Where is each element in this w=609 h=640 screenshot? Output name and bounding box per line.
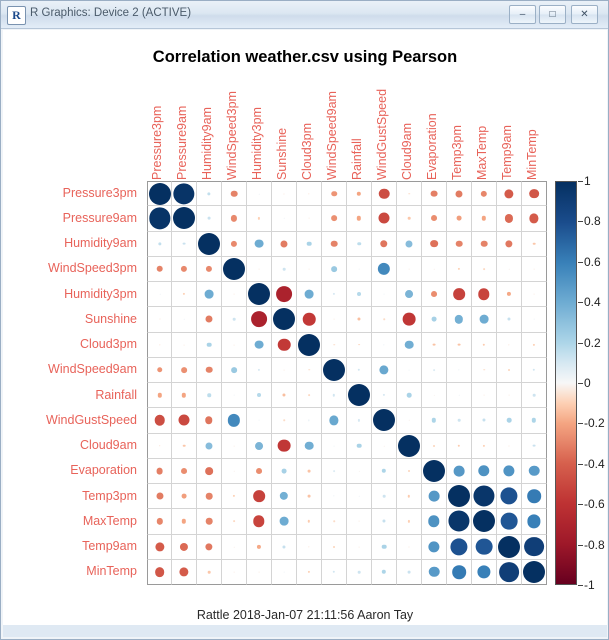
color-legend: 10.80.60.40.20-0.2-0.4-0.6-0.8-1 [555,181,607,585]
correlation-dot [408,495,410,497]
matrix-cell [522,358,547,383]
correlation-dot [207,192,210,195]
correlation-dot [273,308,295,330]
maximize-icon: □ [540,6,565,23]
matrix-cell [422,257,447,282]
matrix-cell [347,282,372,307]
correlation-dot [308,193,309,194]
row-label-maxtemp: MaxTemp [83,514,137,528]
correlation-dot [228,414,240,426]
correlation-dot [357,216,361,220]
correlation-dot [533,242,536,245]
matrix-cell [347,459,372,484]
correlation-dot [280,240,287,247]
correlation-dot [430,240,438,248]
correlation-dot [206,266,212,272]
matrix-cell [322,459,347,484]
matrix-cell [522,282,547,307]
correlation-dot [523,561,545,583]
matrix-cell [297,434,322,459]
correlation-dot [379,365,388,374]
matrix-cell [172,307,197,332]
correlation-dot [423,460,445,482]
correlation-dot [307,241,312,246]
legend-tick-label: -0.2 [584,416,605,430]
correlation-dot [483,268,485,270]
window-title: R Graphics: Device 2 (ACTIVE) [30,7,191,19]
matrix-cell [222,509,247,534]
correlation-dot [357,443,362,448]
matrix-cell [172,459,197,484]
correlation-dot [231,367,237,373]
correlation-dot [182,519,186,523]
legend-tick-label: -1 [584,578,595,592]
matrix-cell [497,408,522,433]
correlation-dot [284,369,285,370]
correlation-dot [182,393,186,397]
correlation-dot [156,493,163,500]
correlation-dot [529,214,538,223]
matrix-cell [472,560,497,585]
row-label-rainfall: Rainfall [95,388,137,402]
correlation-dot [534,294,535,295]
matrix-cell [472,358,497,383]
matrix-cell [422,509,447,534]
matrix-cell [297,358,322,383]
matrix-cell [347,509,372,534]
matrix-cell [322,282,347,307]
correlation-dot [428,541,439,552]
correlation-dot [207,393,211,397]
matrix-cell [497,509,522,534]
matrix-cell [197,509,222,534]
correlation-dot [507,418,512,423]
correlation-dot [483,343,485,345]
matrix-cell [347,560,372,585]
correlation-dot [433,369,435,371]
matrix-cell [422,560,447,585]
correlation-dot [331,216,337,222]
correlation-dot [333,495,334,496]
correlation-dot [458,268,460,270]
correlation-dot [333,521,335,523]
matrix-cell [472,307,497,332]
column-label-pressure3pm: Pressure3pm [150,106,164,180]
correlation-dot [533,369,535,371]
column-label-sunshine: Sunshine [275,128,289,180]
legend-tick-label: 1 [584,174,591,188]
correlation-dot [408,470,410,472]
matrix-cell [272,257,297,282]
matrix-cell [397,560,422,585]
correlation-dot [278,439,291,452]
correlation-dot [333,344,335,346]
matrix-cell [222,535,247,560]
matrix-cell [422,459,447,484]
matrix-cell [322,232,347,257]
matrix-cell [472,434,497,459]
matrix-cell [222,257,247,282]
matrix-cell [497,232,522,257]
correlation-dot [432,418,436,422]
row-label-mintemp: MinTemp [86,564,137,578]
legend-tick [578,585,583,586]
correlation-dot [379,213,390,224]
column-label-pressure9am: Pressure9am [175,106,189,180]
matrix-cell [522,257,547,282]
matrix-cell [347,232,372,257]
matrix-cell [147,358,172,383]
matrix-cell [247,206,272,231]
correlation-dot [429,567,440,578]
correlation-dot [383,344,384,345]
correlation-dot [181,266,187,272]
correlation-dot [383,394,385,396]
matrix-cell [447,459,472,484]
matrix-cell [297,383,322,408]
correlation-dot [308,369,310,371]
matrix-cell [497,181,522,206]
correlation-dot [333,293,335,295]
correlation-dot [308,469,311,472]
matrix-cell [172,333,197,358]
matrix-cell [322,257,347,282]
column-label-maxtemp: MaxTemp [475,126,489,180]
matrix-cell [272,560,297,585]
matrix-cell [472,257,497,282]
matrix-cell [522,560,547,585]
correlation-dot [450,538,467,555]
correlation-dot [432,317,437,322]
column-label-mintemp: MinTemp [525,129,539,180]
matrix-cell [372,257,397,282]
matrix-cell [397,181,422,206]
correlation-dot [482,216,486,220]
matrix-cell [272,181,297,206]
correlation-dot [431,190,438,197]
correlation-dot [532,418,536,422]
matrix-cell [397,358,422,383]
matrix-cell [172,535,197,560]
matrix-cell [322,307,347,332]
matrix-cell [347,358,372,383]
correlation-dot [408,217,411,220]
matrix-cell [222,408,247,433]
correlation-dot [159,344,160,345]
column-label-cloud9am: Cloud9am [400,123,414,180]
correlation-dot [280,492,288,500]
correlation-dot [157,367,163,373]
matrix-cell [147,232,172,257]
matrix-cell [272,459,297,484]
correlation-dot [405,290,413,298]
correlation-dot [234,572,235,573]
matrix-cell [372,307,397,332]
correlation-dot [309,218,310,219]
correlation-dot [498,536,520,558]
row-label-windspeed3pm: WindSpeed3pm [48,261,137,275]
correlation-dot [379,188,390,199]
correlation-dot [458,343,461,346]
correlation-dot [183,293,185,295]
correlation-dot [323,359,345,381]
maximize-button[interactable]: □ [539,5,566,24]
correlation-dot [208,217,211,220]
matrix-cell [372,434,397,459]
correlation-dot [276,286,292,302]
correlation-dot [183,242,186,245]
correlation-dot [452,565,466,579]
correlation-dot [382,469,386,473]
page-title: Correlation weather.csv using Pearson [3,48,607,67]
legend-tick [578,181,583,182]
matrix-cell [222,181,247,206]
matrix-cell [197,358,222,383]
matrix-cell [447,408,472,433]
correlation-dot [284,572,285,573]
column-label-windspeed3pm: WindSpeed3pm [225,91,239,180]
correlation-dot [358,369,360,371]
matrix-cell [522,408,547,433]
matrix-cell [397,282,422,307]
matrix-cell [222,459,247,484]
matrix-cell [197,484,222,509]
matrix-cell [247,282,272,307]
correlation-dot [408,570,411,573]
matrix-cell [222,232,247,257]
matrix-cell [247,333,272,358]
row-label-cloud3pm: Cloud3pm [80,337,137,351]
row-label-humidity3pm: Humidity3pm [64,287,137,301]
matrix-cell [422,206,447,231]
window-titlebar: R R Graphics: Device 2 (ACTIVE) – □ ✕ [1,1,608,29]
correlation-dot [408,520,410,522]
matrix-cell [422,333,447,358]
legend-tick [578,302,583,303]
matrix-cell [472,484,497,509]
matrix-cell [422,307,447,332]
matrix-cell [247,484,272,509]
matrix-cell [197,535,222,560]
row-label-pressure9am: Pressure9am [63,211,137,225]
correlation-dot [456,240,463,247]
correlation-dot [158,242,161,245]
minimize-button[interactable]: – [509,5,536,24]
correlation-dot [508,445,509,446]
matrix-cell [247,535,272,560]
correlation-dot [308,571,310,573]
matrix-cell [147,181,172,206]
correlation-dot [207,342,212,347]
correlation-dot [357,191,361,195]
correlation-dot [282,545,285,548]
matrix-cell [222,484,247,509]
correlation-dot [448,511,469,532]
legend-tick-label: 0.4 [584,295,601,309]
correlation-dot [251,311,267,327]
correlation-dot [504,189,513,198]
r-app-icon: R [7,6,26,25]
correlation-dot [181,468,187,474]
matrix-cell [197,383,222,408]
matrix-cell [497,257,522,282]
correlation-dot [458,369,459,370]
correlation-dot [233,318,236,321]
matrix-cell [472,282,497,307]
matrix-cell [247,181,272,206]
correlation-dot [181,367,187,373]
matrix-cell [197,206,222,231]
correlation-dot [149,208,170,229]
correlation-dot [431,215,437,221]
matrix-cell [447,181,472,206]
correlation-dot [223,258,245,280]
correlation-dot [258,369,260,371]
matrix-cell [497,459,522,484]
matrix-cell [147,257,172,282]
legend-tick [578,464,583,465]
correlation-dot [383,319,385,321]
correlation-dot [303,313,316,326]
correlation-dot [155,567,165,577]
legend-gradient-bar [555,181,577,585]
correlation-dot [308,394,310,396]
correlation-dot [248,283,270,305]
matrix-cell [472,181,497,206]
correlation-dot [231,190,238,197]
matrix-cell [172,181,197,206]
correlation-dot [233,521,235,523]
correlation-dot [483,369,485,371]
matrix-cell [422,181,447,206]
matrix-cell [247,560,272,585]
correlation-dot [357,242,361,246]
matrix-cell [447,560,472,585]
correlation-dot [433,343,436,346]
correlation-dot [331,240,338,247]
correlation-dot [507,292,511,296]
correlation-dot [179,415,190,426]
correlation-dot [405,240,412,247]
row-label-windgustspeed: WindGustSpeed [46,413,137,427]
correlation-dot [157,393,161,397]
correlation-dot [500,488,517,505]
matrix-cell [397,257,422,282]
matrix-cell [172,408,197,433]
correlation-dot [205,290,214,299]
matrix-cell [197,333,222,358]
correlation-dot [205,442,212,449]
matrix-cell [322,383,347,408]
correlation-dot [408,193,410,195]
matrix-cell [297,408,322,433]
correlation-dot [357,318,360,321]
correlation-dot [180,543,188,551]
correlation-dot [154,415,165,426]
correlation-dot [206,367,213,374]
correlation-dot [373,409,395,431]
correlation-dot [448,485,470,507]
matrix-cell [472,383,497,408]
matrix-cell [372,206,397,231]
matrix-cell [522,434,547,459]
correlation-dot [476,538,493,555]
correlation-dot [508,369,510,371]
matrix-cell [197,181,222,206]
close-button[interactable]: ✕ [571,5,598,24]
matrix-cell [172,232,197,257]
plot-footer: Rattle 2018-Jan-07 21:11:56 Aaron Tay [3,608,607,622]
legend-tick-label: -0.6 [584,497,605,511]
matrix-cell [297,181,322,206]
matrix-cell [197,408,222,433]
matrix-cell [497,383,522,408]
matrix-cell [347,257,372,282]
correlation-dot [359,546,360,547]
matrix-cell [472,535,497,560]
matrix-cell [322,535,347,560]
correlation-dot [305,290,314,299]
correlation-dot [234,344,235,345]
matrix-cell [397,484,422,509]
correlation-dot [280,517,289,526]
correlation-dot [334,319,335,320]
matrix-cell [497,560,522,585]
correlation-dot [473,486,494,507]
matrix-cell [472,333,497,358]
plot-canvas: Correlation weather.csv using Pearson Pr… [3,30,607,625]
matrix-cell [372,333,397,358]
correlation-dot [308,495,311,498]
matrix-cell [247,459,272,484]
correlation-dot [453,288,465,300]
matrix-cell [522,307,547,332]
matrix-cell [222,560,247,585]
correlation-dot [233,495,235,497]
column-label-humidity3pm: Humidity3pm [250,107,264,180]
correlation-dot [380,240,387,247]
correlation-dot [508,344,509,345]
matrix-cell [272,333,297,358]
matrix-cell [447,333,472,358]
correlation-dot [149,183,171,205]
matrix-cell [347,484,372,509]
correlation-dot [205,316,212,323]
correlation-dot [433,445,435,447]
matrix-cell [397,509,422,534]
matrix-cell [172,560,197,585]
matrix-cell [422,383,447,408]
legend-tick-label: -0.8 [584,538,605,552]
correlation-dot [524,537,544,557]
matrix-cell [147,206,172,231]
correlation-dot [382,520,385,523]
correlation-dot [358,419,360,421]
correlation-dot [529,466,540,477]
correlation-dot [409,269,410,270]
matrix-cell [422,434,447,459]
correlation-dot [259,571,260,572]
matrix-cell [522,181,547,206]
legend-tick-label: 0 [584,376,591,390]
matrix-cell [272,282,297,307]
close-icon: ✕ [572,6,597,23]
matrix-cell [347,535,372,560]
correlation-dot [507,318,510,321]
correlation-dot [509,395,510,396]
correlation-dot [234,395,235,396]
matrix-cell [422,232,447,257]
